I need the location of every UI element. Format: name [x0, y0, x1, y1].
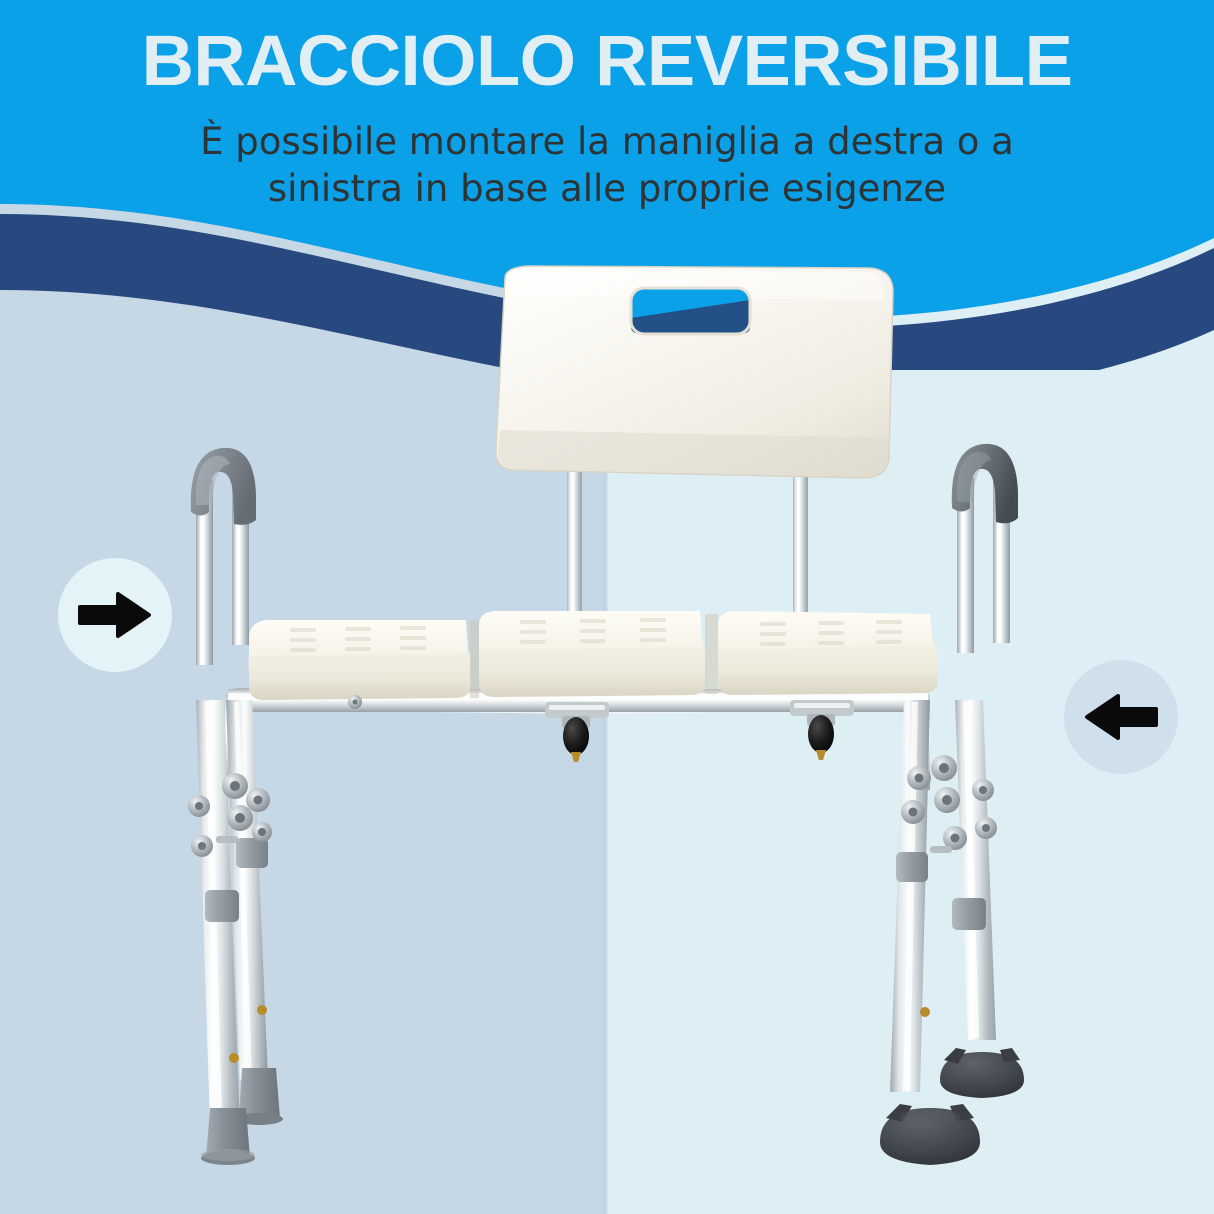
arrow-left-badge[interactable] [1064, 660, 1178, 774]
leg-collar [205, 890, 239, 922]
arrow-right-icon [78, 591, 152, 639]
locking-knob-left [545, 702, 609, 762]
armrest-left [191, 448, 256, 665]
armrest-right [952, 444, 1018, 653]
locking-knob-right [790, 700, 854, 760]
product-marketing-banner: BRACCIOLO REVERSIBILE È possibile montar… [0, 0, 1214, 1214]
backrest-shade [498, 430, 888, 477]
arrow-right-badge[interactable] [58, 558, 172, 672]
leg-collar [952, 898, 986, 930]
seat-panel-left [248, 620, 471, 700]
backrest-group [496, 266, 893, 635]
frame-group [188, 688, 1024, 1165]
backrest-handle-cutout [631, 288, 750, 334]
knob-handle [808, 715, 834, 753]
leg-collar [236, 838, 268, 868]
product-image [0, 0, 1214, 1214]
leg-collar [896, 852, 928, 882]
knob-handle [563, 717, 589, 755]
seat-panel-center [479, 611, 706, 697]
backrest-post-left [567, 460, 582, 635]
arrow-left-icon [1084, 693, 1158, 741]
backrest-post-right [793, 460, 808, 630]
seat-panel-right [718, 611, 938, 695]
